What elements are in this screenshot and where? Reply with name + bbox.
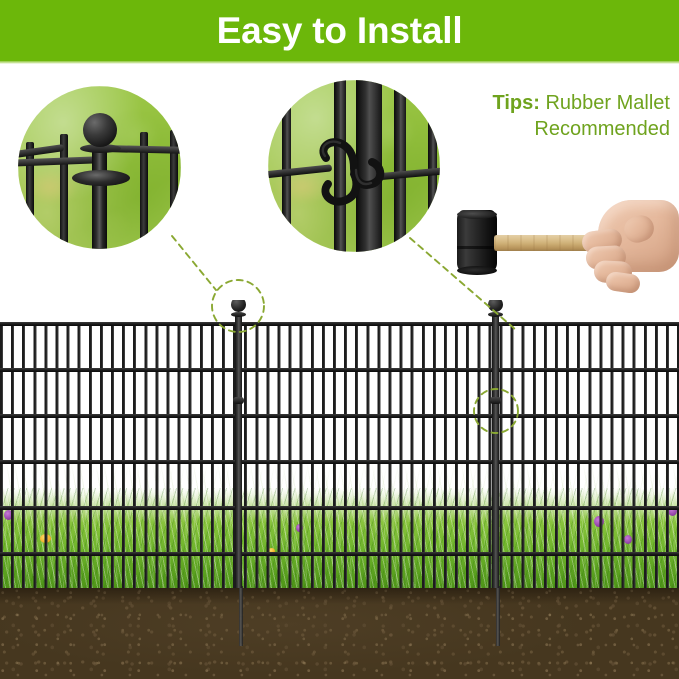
header-banner: Easy to Install (0, 0, 679, 61)
fence-rail-top (0, 322, 679, 326)
tips-callout: Tips: Rubber Mallet Recommended (455, 90, 670, 142)
product-infographic: Easy to Install Tips: Rubber Mallet Reco… (0, 0, 679, 679)
fence-scene (0, 300, 679, 679)
mallet-band-icon (457, 246, 497, 249)
page-title: Easy to Install (217, 12, 463, 49)
post-connector-joint (233, 397, 244, 404)
finger-pinky (605, 271, 641, 295)
fence-vertical-bars (0, 322, 679, 588)
tips-text-line2: Recommended (455, 116, 670, 142)
post-connector-joint (490, 397, 501, 404)
banner-divider (0, 61, 679, 64)
soil-shading (0, 588, 679, 679)
ball-finial-icon (488, 300, 503, 312)
post-washer-icon (72, 170, 130, 186)
inset-s-hook-connector (268, 80, 440, 252)
s-hook-graphic (268, 80, 440, 252)
post-collar-icon (231, 312, 246, 317)
soil-ground (0, 588, 679, 679)
tips-text-line1: Rubber Mallet (545, 92, 670, 114)
fence-post-right (492, 314, 499, 588)
fence-post-left (235, 314, 242, 588)
fence-mesh (0, 300, 679, 600)
s-hook-icon (268, 80, 440, 252)
tips-label: Tips: (493, 92, 540, 114)
ball-finial-icon (231, 300, 246, 312)
fence-rail (0, 414, 679, 418)
fence-rail (0, 460, 679, 464)
inset-post-finial (18, 86, 181, 249)
ball-finial-icon (83, 113, 117, 147)
fence-rail (0, 506, 679, 510)
mallet-head-icon (457, 210, 497, 272)
hand-holding-mallet (576, 200, 679, 292)
post-collar-icon (488, 312, 503, 317)
fence-post-icon (92, 142, 107, 249)
fence-rail-bottom (0, 552, 679, 556)
fence-rail (0, 368, 679, 372)
